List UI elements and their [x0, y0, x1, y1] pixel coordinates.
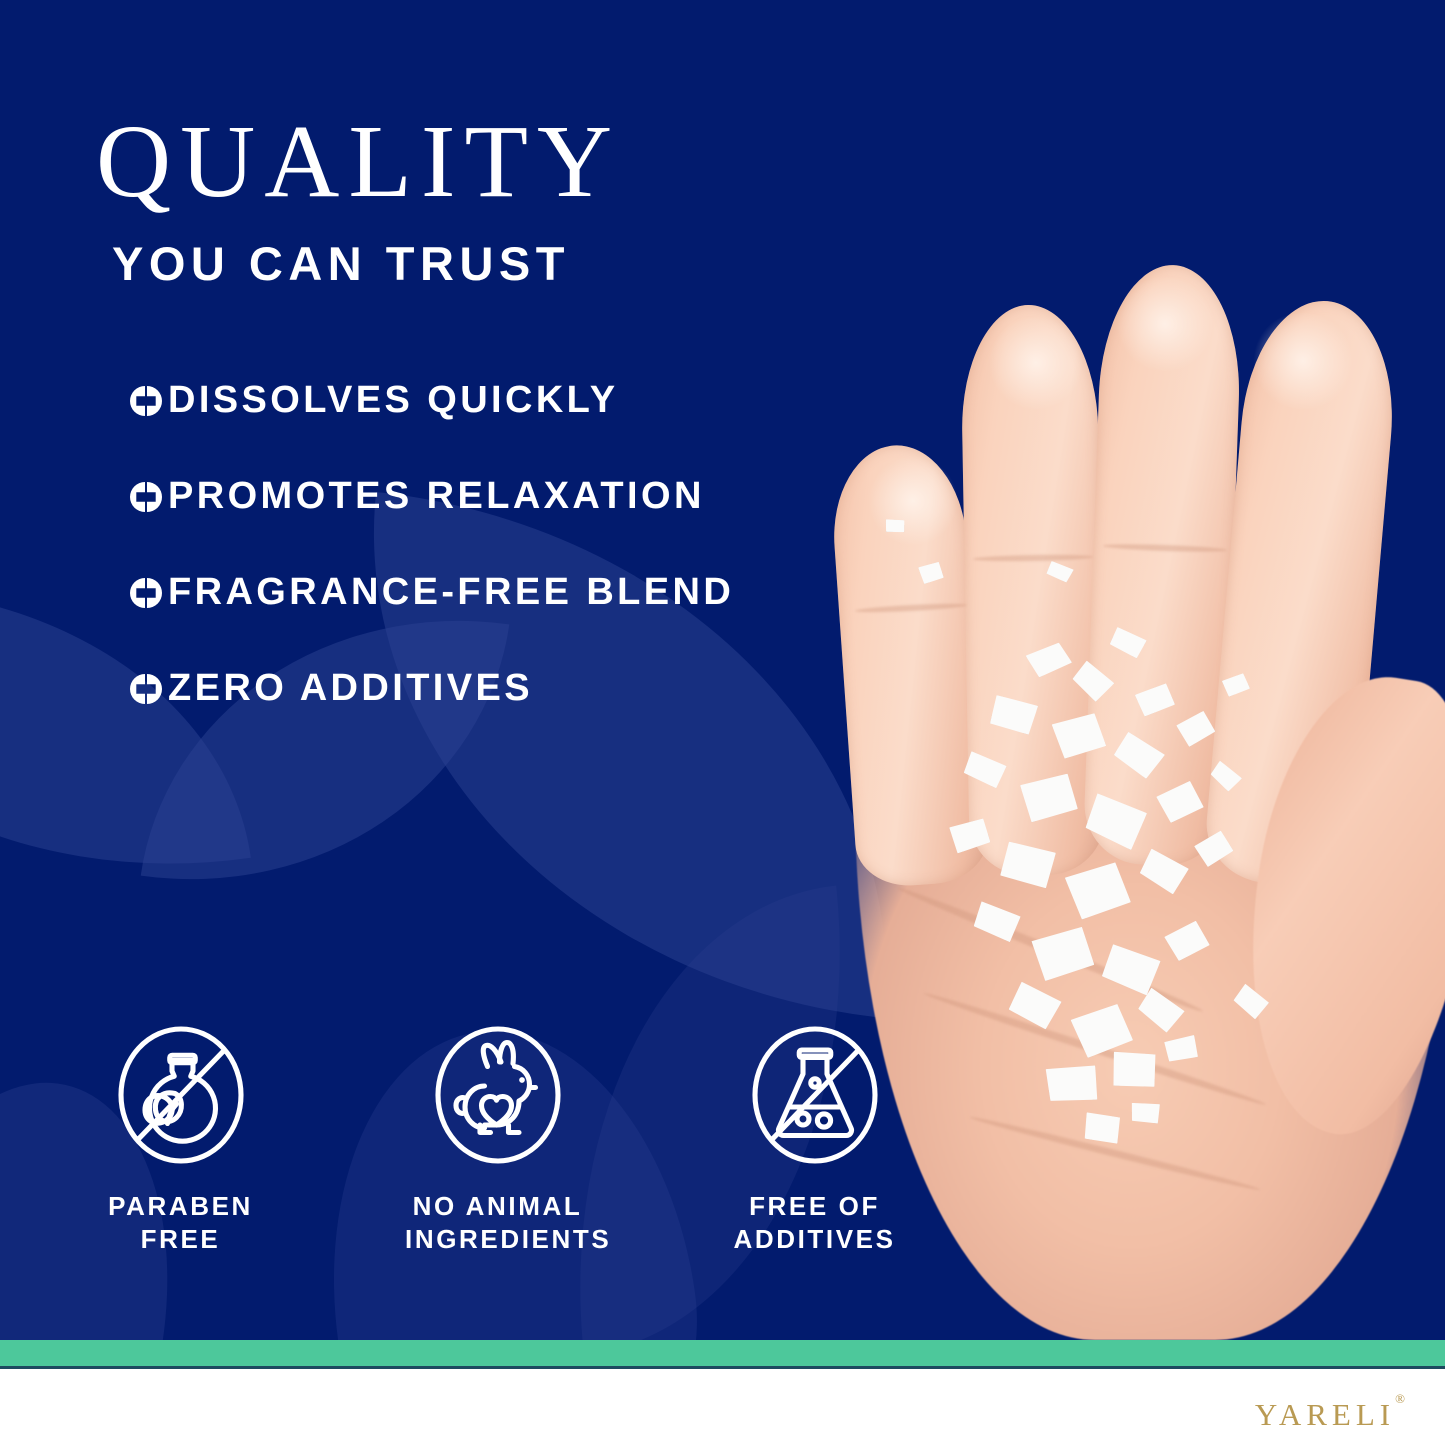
benefit-item-zero-additives: ZERO ADDITIVES [130, 640, 910, 736]
flake [1024, 641, 1073, 679]
flake [1064, 861, 1133, 921]
badge-label: PARABEN FREE [88, 1190, 273, 1257]
flake [1207, 760, 1244, 795]
flake [962, 751, 1008, 790]
no-additives-flask-icon [740, 1020, 890, 1170]
registered-trademark-icon: ® [1395, 1391, 1405, 1406]
flake [972, 901, 1022, 943]
flake [1000, 841, 1057, 889]
flake [1045, 560, 1074, 583]
benefit-label: DISSOLVES QUICKLY [168, 379, 619, 422]
flake [1193, 829, 1235, 868]
flake [1019, 773, 1078, 823]
flake [1068, 658, 1118, 705]
brand-footer: YARELI® [0, 1369, 1445, 1445]
petal-pair-icon [130, 481, 162, 513]
flake [918, 561, 945, 584]
benefit-label: FRAGRANCE-FREE BLEND [168, 571, 734, 614]
flake [989, 695, 1039, 736]
flake [1175, 710, 1217, 749]
page-subtitle: YOU CAN TRUST [112, 240, 570, 287]
flake [1006, 981, 1063, 1032]
green-divider-stripe [0, 1340, 1445, 1369]
certification-badges: PARABEN FREE [88, 1020, 907, 1257]
rabbit-heart-icon [423, 1020, 573, 1170]
benefit-item-fragrance-free-blend: FRAGRANCE-FREE BLEND [130, 544, 910, 640]
badge-no-animal-ingredients: NO ANIMAL INGREDIENTS [405, 1020, 590, 1257]
badge-label: NO ANIMAL INGREDIENTS [405, 1190, 590, 1257]
flake [1221, 673, 1251, 698]
benefit-item-dissolves-quickly: DISSOLVES QUICKLY [130, 352, 910, 448]
benefit-label: ZERO ADDITIVES [168, 667, 533, 710]
flake [1031, 926, 1096, 982]
flake [1043, 1057, 1104, 1110]
flake [1163, 919, 1212, 963]
badge-free-of-additives: FREE OF ADDITIVES [722, 1020, 907, 1257]
no-paraben-flask-leaf-icon [106, 1020, 256, 1170]
brand-logo: YARELI® [1255, 1397, 1405, 1433]
petal-pair-icon [130, 385, 162, 417]
badge-paraben-free: PARABEN FREE [88, 1020, 273, 1257]
flake [949, 818, 992, 854]
flake [1134, 683, 1176, 718]
brand-name: YARELI [1255, 1397, 1395, 1432]
benefit-list: DISSOLVES QUICKLY PROMOTES RELAXATION FR… [130, 352, 910, 736]
flake [1129, 1099, 1162, 1127]
page-title: QUALITY [96, 110, 621, 214]
product-infographic: QUALITY YOU CAN TRUST DISSOLVES QUICKLY … [0, 0, 1445, 1445]
flake [1080, 1108, 1125, 1147]
petal-pair-icon [130, 673, 162, 705]
flake [1231, 983, 1272, 1022]
flake [1110, 730, 1168, 782]
blue-background-panel: QUALITY YOU CAN TRUST DISSOLVES QUICKLY … [0, 0, 1445, 1340]
benefit-label: PROMOTES RELAXATION [168, 475, 705, 518]
flake [1051, 712, 1107, 759]
flake [1161, 1029, 1204, 1069]
badge-label: FREE OF ADDITIVES [722, 1190, 907, 1257]
flake [1134, 986, 1188, 1036]
flake [1083, 792, 1149, 851]
petal-pair-icon [130, 577, 162, 609]
flake [1137, 847, 1192, 896]
flake [1155, 779, 1205, 824]
flake [1108, 1047, 1160, 1092]
flake [1069, 1002, 1134, 1059]
benefit-item-promotes-relaxation: PROMOTES RELAXATION [130, 448, 910, 544]
flake [1108, 626, 1148, 659]
